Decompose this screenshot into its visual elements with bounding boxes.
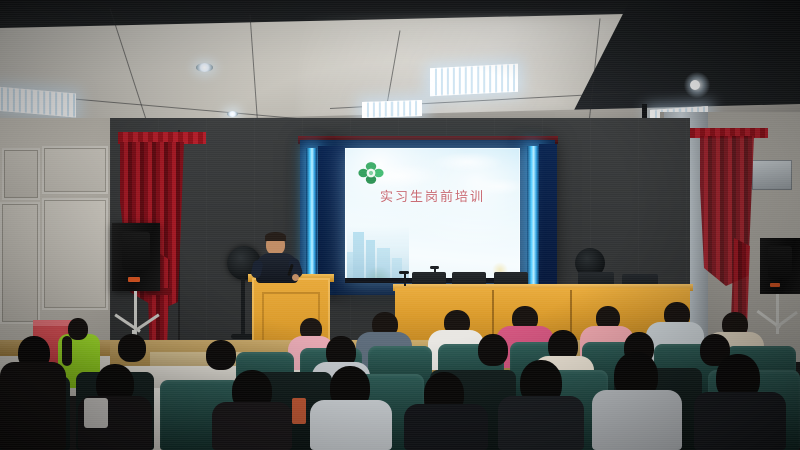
slide-title: 实习生岗前培训: [345, 186, 520, 205]
stage-pedestal-fan-left-pole: [241, 278, 245, 336]
audience-body: [694, 392, 786, 450]
presenter-hand: [292, 274, 299, 281]
audience-body: [592, 390, 682, 450]
audience-head: [206, 340, 236, 370]
left-pa-speaker-badge: [128, 277, 140, 282]
person-in-green-jacket-hair: [62, 336, 72, 366]
wall-panel: [2, 204, 38, 322]
person-in-green-jacket-head: [68, 318, 88, 340]
wall-panel: [44, 148, 106, 192]
handheld-item: [292, 398, 306, 424]
wall-panel: [44, 200, 106, 308]
left-pa-speaker-grille: [122, 232, 150, 270]
paper-sheet: [84, 398, 108, 428]
audience-body: [0, 362, 66, 450]
audience-body: [404, 404, 488, 450]
ceiling-spotlight-bulb: [690, 80, 700, 90]
audience-body: [310, 400, 392, 450]
led-strip-left: [306, 148, 317, 288]
ceiling-downlight: [196, 63, 213, 72]
audience-body: [498, 396, 584, 450]
audience-head: [118, 334, 146, 362]
right-pa-speaker-badge: [770, 283, 780, 287]
ceiling-grid-light: [362, 100, 422, 118]
table-microphone-head: [399, 271, 409, 274]
screen-bezel-right: [539, 144, 557, 290]
ceiling-downlight: [227, 111, 238, 117]
led-strip-right: [527, 146, 539, 288]
slide-logo-green-flower-emblem: [358, 161, 384, 185]
presenter-hair: [265, 232, 286, 241]
table-microphone: [404, 274, 406, 286]
wall-panel: [4, 150, 38, 198]
table-microphone-head: [430, 266, 439, 269]
audience-head: [478, 334, 508, 366]
wall-fixture: [752, 160, 792, 190]
screen-bezel-left: [318, 146, 344, 290]
audience-body: [212, 402, 292, 450]
right-pa-speaker-grille: [768, 246, 792, 278]
ceiling-grid-light: [430, 64, 518, 97]
auditorium-photo: 实习生岗前培训: [0, 0, 800, 450]
